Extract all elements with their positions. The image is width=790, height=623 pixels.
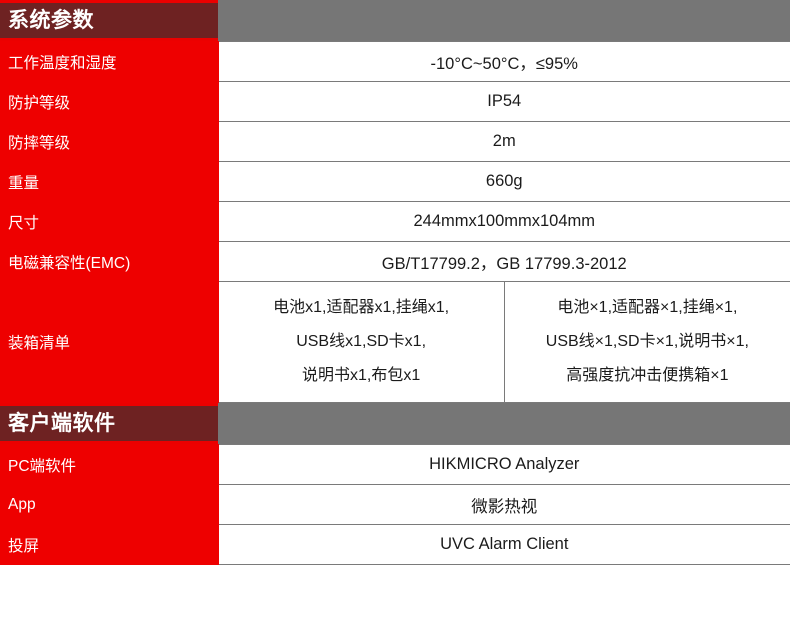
row-label-screen-casting: 投屏 xyxy=(0,525,218,565)
packing-line: 说明书x1,布包x1 xyxy=(302,359,420,393)
section-header-gray-cell xyxy=(218,403,790,445)
table-row: 重量 660g xyxy=(0,162,790,202)
row-value-dimensions: 244mmx100mmx104mm xyxy=(218,202,790,242)
row-value-operating-temp-humidity: -10°C~50°C，≤95% xyxy=(218,42,790,82)
row-value-ingress-protection: IP54 xyxy=(218,82,790,122)
packing-line: USB线x1,SD卡x1, xyxy=(296,325,426,359)
packing-line: 电池x1,适配器x1,挂绳x1, xyxy=(273,291,449,325)
row-label-app: App xyxy=(0,485,218,525)
row-value-drop-rating: 2m xyxy=(218,122,790,162)
section-header-row: 系统参数 xyxy=(0,0,790,42)
row-label-emc: 电磁兼容性(EMC) xyxy=(0,242,218,282)
section-title-system-parameters: 系统参数 xyxy=(0,0,218,41)
row-value-screen-casting: UVC Alarm Client xyxy=(218,525,790,565)
row-value-pc-software: HIKMICRO Analyzer xyxy=(218,445,790,485)
section-header-label-cell: 客户端软件 xyxy=(0,403,218,445)
row-label-weight: 重量 xyxy=(0,162,218,202)
specification-table: 系统参数 工作温度和湿度 -10°C~50°C，≤95% 防护等级 IP54 防… xyxy=(0,0,790,565)
table-row: 电磁兼容性(EMC) GB/T17799.2，GB 17799.3-2012 xyxy=(0,242,790,282)
section-header-gray-band xyxy=(218,0,790,41)
section-header-wrap: 系统参数 xyxy=(0,0,218,41)
table-row: PC端软件 HIKMICRO Analyzer xyxy=(0,445,790,485)
header-rule-bottom xyxy=(0,441,218,444)
row-value-packing-list: 电池x1,适配器x1,挂绳x1, USB线x1,SD卡x1, 说明书x1,布包x… xyxy=(218,282,790,403)
section-header-row: 客户端软件 xyxy=(0,403,790,445)
row-label-dimensions: 尺寸 xyxy=(0,202,218,242)
section-header-gray-cell xyxy=(218,0,790,42)
header-rule-bottom xyxy=(0,38,218,41)
section-header-gray-band xyxy=(218,403,790,444)
header-rule-top xyxy=(0,403,218,406)
packing-list-variant-standard: 电池x1,适配器x1,挂绳x1, USB线x1,SD卡x1, 说明书x1,布包x… xyxy=(219,282,504,402)
row-value-emc: GB/T17799.2，GB 17799.3-2012 xyxy=(218,242,790,282)
header-rule-top xyxy=(0,0,218,3)
section-header-wrap: 客户端软件 xyxy=(0,403,218,444)
page-bottom-whitespace xyxy=(0,565,790,623)
packing-list-split: 电池x1,适配器x1,挂绳x1, USB线x1,SD卡x1, 说明书x1,布包x… xyxy=(219,282,790,402)
row-label-operating-temp-humidity: 工作温度和湿度 xyxy=(0,42,218,82)
row-label-packing-list: 装箱清单 xyxy=(0,282,218,403)
table-row: App 微影热视 xyxy=(0,485,790,525)
row-label-pc-software: PC端软件 xyxy=(0,445,218,485)
packing-line: 高强度抗冲击便携箱×1 xyxy=(566,359,728,393)
packing-line: 电池×1,适配器×1,挂绳×1, xyxy=(557,291,737,325)
table-row: 工作温度和湿度 -10°C~50°C，≤95% xyxy=(0,42,790,82)
specification-sheet: 系统参数 工作温度和湿度 -10°C~50°C，≤95% 防护等级 IP54 防… xyxy=(0,0,790,623)
table-row: 投屏 UVC Alarm Client xyxy=(0,525,790,565)
section-header-label-cell: 系统参数 xyxy=(0,0,218,42)
table-row: 尺寸 244mmx100mmx104mm xyxy=(0,202,790,242)
row-label-drop-rating: 防摔等级 xyxy=(0,122,218,162)
packing-list-variant-case: 电池×1,适配器×1,挂绳×1, USB线×1,SD卡×1,说明书×1, 高强度… xyxy=(504,282,790,402)
table-row: 防摔等级 2m xyxy=(0,122,790,162)
table-row-packing-list: 装箱清单 电池x1,适配器x1,挂绳x1, USB线x1,SD卡x1, 说明书x… xyxy=(0,282,790,403)
table-row: 防护等级 IP54 xyxy=(0,82,790,122)
row-value-weight: 660g xyxy=(218,162,790,202)
row-label-ingress-protection: 防护等级 xyxy=(0,82,218,122)
packing-line: USB线×1,SD卡×1,说明书×1, xyxy=(546,325,749,359)
section-title-client-software: 客户端软件 xyxy=(0,403,218,444)
row-value-app: 微影热视 xyxy=(218,485,790,525)
